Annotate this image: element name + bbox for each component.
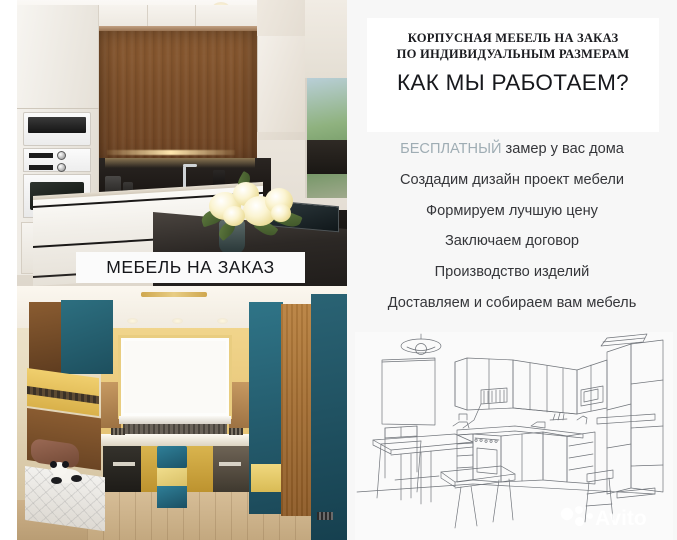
- mebel-na-zakaz-banner: МЕБЕЛЬ НА ЗАКАЗ: [76, 252, 305, 283]
- oven-knob: [57, 151, 66, 160]
- photo-column: МЕБЕЛЬ НА ЗАКАЗ: [0, 0, 347, 540]
- step-text: Производство изделий: [435, 264, 590, 280]
- kettle: [459, 414, 467, 420]
- teal-cabinet: [61, 300, 113, 374]
- step-text: Создадим дизайн проект мебели: [400, 172, 624, 188]
- kicker-line-2: ПО ИНДИВИДУАЛЬНЫМ РАЗМЕРАМ: [367, 46, 659, 62]
- range-hood: [257, 36, 305, 132]
- power-socket: [229, 428, 243, 435]
- led-strip: [107, 150, 235, 155]
- step-text: замер у вас дома: [502, 141, 624, 157]
- right-wall-panel: [631, 340, 663, 492]
- wall-picture: [382, 358, 435, 425]
- step-item: Создадим дизайн проект мебели: [357, 171, 667, 189]
- step-item: Производство изделий: [357, 263, 667, 281]
- walnut-niche: [99, 31, 257, 163]
- headline: КАК МЫ РАБОТАЕМ?: [367, 70, 659, 96]
- banner-label: МЕБЕЛЬ НА ЗАКАЗ: [106, 257, 274, 278]
- chrysanthemum: [271, 204, 291, 222]
- upper-cabinets-run: [513, 360, 577, 414]
- chrysanthemum: [223, 206, 245, 226]
- kids-room-photo: [17, 286, 347, 540]
- corner-base-cabinet: [543, 432, 567, 482]
- ad-creative: МЕБЕЛЬ НА ЗАКАЗ КОРПУСНАЯ МЕБЕЛЬ НА ЗАКА…: [0, 0, 677, 540]
- dining-table-top: [373, 434, 473, 450]
- bench-leg: [455, 486, 477, 528]
- step-text: Доставляем и собираем вам мебель: [388, 295, 637, 311]
- step-text: Заключаем договор: [445, 233, 579, 249]
- headline-card: КОРПУСНАЯ МЕБЕЛЬ НА ЗАКАЗ ПО ИНДИВИДУАЛЬ…: [367, 18, 659, 132]
- countertop: [457, 426, 583, 438]
- wall-shelf: [229, 382, 249, 428]
- pendant-lamp-shade: [401, 339, 441, 353]
- table-stretcher: [395, 476, 439, 480]
- step-item: Заключаем договор: [357, 232, 667, 250]
- teal-wall: [311, 294, 347, 540]
- step-text: Формируем лучшую цену: [426, 203, 598, 219]
- tall-cabinet: [607, 344, 631, 494]
- power-socket: [317, 512, 333, 520]
- step-item: Формируем лучшую цену: [357, 202, 667, 220]
- recessed-spotlight: [172, 318, 183, 324]
- kicker-line-1: КОРПУСНАЯ МЕБЕЛЬ НА ЗАКАЗ: [367, 30, 659, 46]
- avito-watermark: Avito: [559, 502, 667, 532]
- step-item: БЕСПЛАТНЫЙ замер у вас дома: [357, 140, 667, 158]
- window: [121, 338, 229, 416]
- kitchen-photo: [17, 0, 347, 286]
- free-highlight: БЕСПЛАТНЫЙ: [400, 141, 501, 157]
- kettle-2: [531, 422, 545, 428]
- open-shelf: [597, 414, 655, 424]
- steps-list: БЕСПЛАТНЫЙ замер у вас дома Создадим диз…: [357, 140, 667, 325]
- extractor-hood: [481, 388, 507, 404]
- wood-column: [281, 304, 313, 516]
- photo-stack: МЕБЕЛЬ НА ЗАКАЗ: [17, 0, 347, 540]
- kicker: КОРПУСНАЯ МЕБЕЛЬ НА ЗАКАЗ ПО ИНДИВИДУАЛЬ…: [367, 30, 659, 62]
- base-drawer-stack: [567, 432, 595, 484]
- oven-knob: [57, 163, 66, 172]
- text-column: КОРПУСНАЯ МЕБЕЛЬ НА ЗАКАЗ ПО ИНДИВИДУАЛЬ…: [347, 0, 677, 540]
- bench-seat: [441, 466, 515, 482]
- avito-wordmark: Avito: [595, 507, 647, 530]
- power-socket: [111, 428, 125, 435]
- ceiling-light-strip: [141, 292, 207, 297]
- step-item: Доставляем и собираем вам мебель: [357, 294, 667, 312]
- avito-logo-svg: Avito: [559, 502, 667, 532]
- wall-shelf: [101, 382, 121, 428]
- table-leg: [401, 454, 411, 500]
- desk-top: [101, 434, 251, 446]
- recessed-spotlight: [127, 318, 138, 324]
- recessed-spotlight: [217, 318, 228, 324]
- oven-door: [477, 448, 497, 474]
- desk-chair: [157, 446, 187, 468]
